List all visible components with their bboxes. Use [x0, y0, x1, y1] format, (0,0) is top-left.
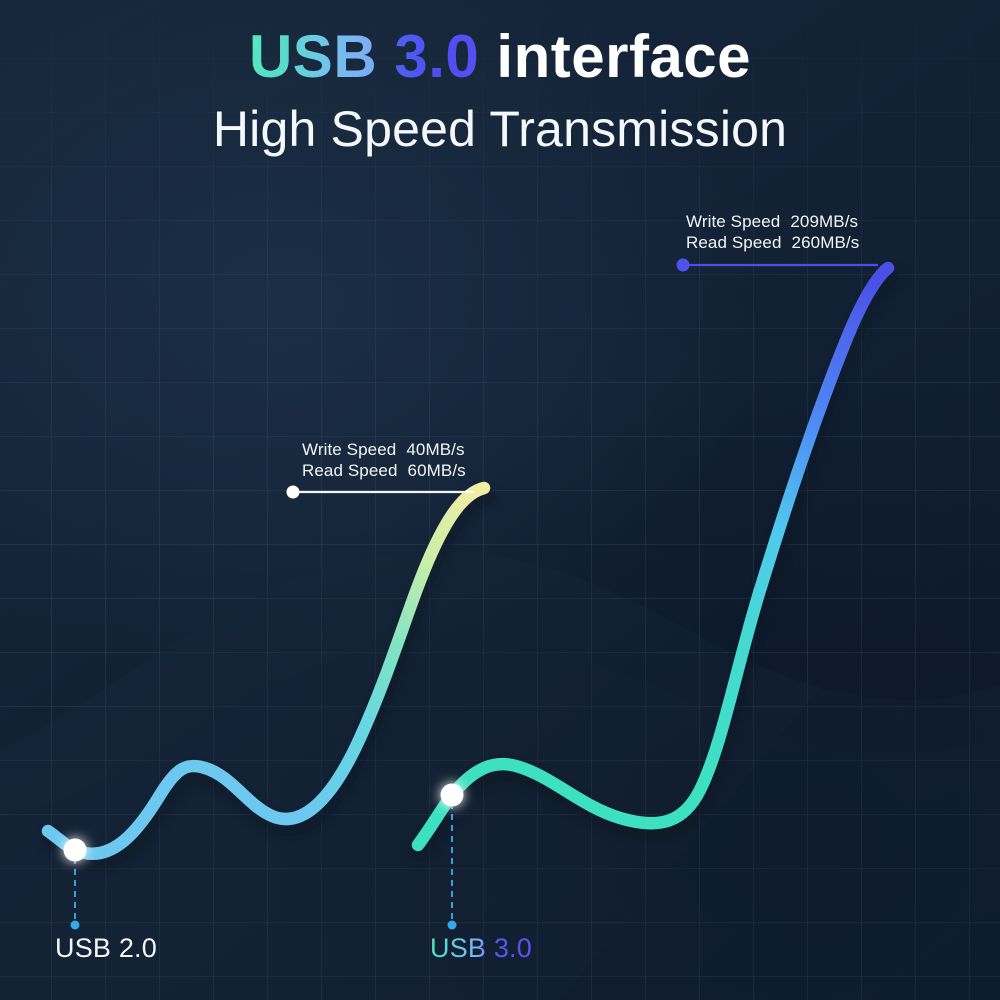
speed-curves-layer — [0, 0, 1000, 1000]
usb20-speed-curve — [48, 488, 484, 854]
annotation-leader-lines — [287, 259, 879, 499]
marker-dot-usb30 — [441, 784, 464, 807]
usb-speed-infographic: USB 3.0 interface High Speed Transmissio… — [0, 0, 1000, 1000]
leader-dot-usb30 — [677, 259, 690, 272]
tick-dot-usb30 — [448, 921, 457, 930]
tick-dot-usb20 — [71, 921, 80, 930]
marker-dot-usb20 — [64, 839, 87, 862]
leader-dot-usb20 — [287, 486, 300, 499]
usb30-speed-curve — [418, 268, 888, 845]
